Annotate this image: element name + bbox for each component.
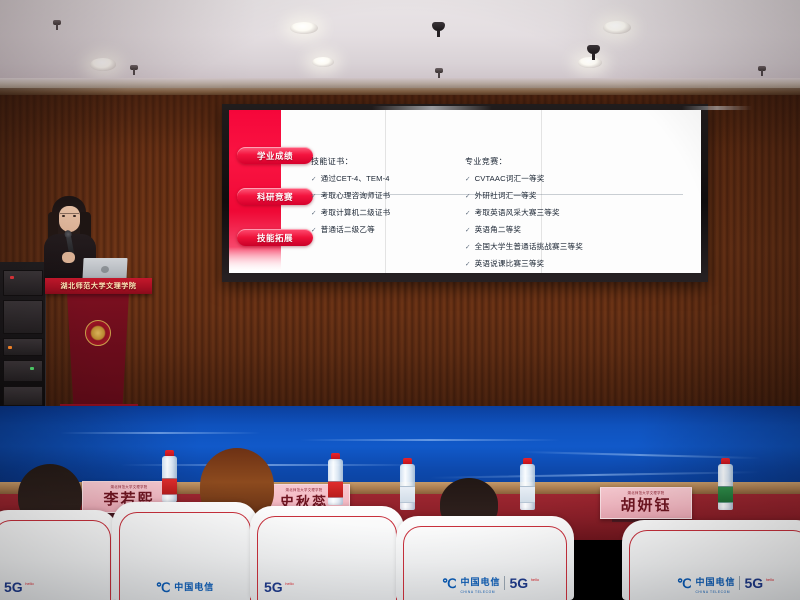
list-item: ✓考取计算机二级证书 <box>311 209 390 218</box>
water-bottle <box>718 458 733 510</box>
chair-cover: ℃ 中国电信 <box>112 502 258 600</box>
china-telecom-cn: 中国电信 <box>460 577 500 587</box>
chair-cover: 5Ghello <box>0 510 118 600</box>
downlight-5 <box>578 57 602 68</box>
name-card-name: 胡妍钰 <box>620 494 671 515</box>
list-item-text: 英语角二等奖 <box>475 225 521 234</box>
downlight-3 <box>312 57 334 67</box>
sprinkler-2 <box>130 65 138 70</box>
presenter-hand <box>62 252 75 263</box>
slide-tab-label: 技能拓展 <box>257 232 293 244</box>
bottle-body <box>718 464 733 510</box>
list-item: ✓考取心理咨询师证书 <box>311 192 390 201</box>
list-item: ✓CVTAAC词汇一等奖 <box>465 175 616 184</box>
bottle-body <box>162 456 177 502</box>
bottle-label <box>400 486 415 503</box>
rack-power-led <box>30 367 34 370</box>
list-item-text: 外研社词汇一等奖 <box>475 191 537 200</box>
5g-tagline: hello <box>285 582 293 586</box>
lecture-hall-photo: 学业成绩 科研竞赛 技能拓展 技能证书： ✓通过CET-4、TEM-4 ✓考取心… <box>0 0 800 600</box>
5g-tagline: hello <box>25 582 33 586</box>
downlight-4 <box>603 21 631 34</box>
list-item: ✓英语角二等奖 <box>465 226 616 235</box>
list-item-text: CVTAAC词汇一等奖 <box>475 174 545 183</box>
university-emblem-icon <box>85 320 111 346</box>
list-item-text: 考取心理咨询师证书 <box>321 191 391 200</box>
certificate-list: ✓通过CET-4、TEM-4 ✓考取心理咨询师证书 ✓考取计算机二级证书 ✓普通… <box>311 175 390 235</box>
china-telecom-en: CHINA TELECOM <box>695 590 735 594</box>
slide-tab-label: 学业成绩 <box>257 150 293 162</box>
list-item-text: 英语说课比赛三等奖 <box>475 259 545 268</box>
5g-logo-icon: 5Ghello <box>4 580 23 594</box>
check-icon: ✓ <box>465 227 471 234</box>
check-icon: ✓ <box>465 261 471 268</box>
ceiling <box>0 0 800 88</box>
china-telecom-wordmark: 中国电信 CHINA TELECOM <box>695 572 735 594</box>
logo-divider <box>739 576 740 590</box>
china-telecom-mark-icon: ℃ <box>156 581 171 594</box>
check-icon: ✓ <box>465 210 471 217</box>
chair-logo-telecom-full: ℃ 中国电信 CHINA TELECOM 5Ghello <box>396 572 574 594</box>
list-item: ✓全国大学生普通话挑战赛三等奖 <box>465 243 616 252</box>
list-item: ✓英语说课比赛三等奖 <box>465 260 616 269</box>
check-icon: ✓ <box>311 227 317 234</box>
5g-five: 5G <box>744 575 763 591</box>
5g-five: 5G <box>509 575 528 591</box>
slide-tab-academic[interactable]: 学业成绩 <box>237 147 313 164</box>
water-bottle <box>400 458 415 510</box>
sprinkler-3 <box>435 68 443 73</box>
rack-unit <box>3 300 43 334</box>
5g-five: 5G <box>264 579 283 595</box>
rack-power-led <box>10 276 14 279</box>
floor-wrinkle <box>60 432 260 434</box>
china-telecom-mark-icon: ℃ <box>677 577 692 590</box>
podium-plate-text: 湖北师范大学文理学院 <box>61 281 137 291</box>
china-telecom-mark-icon: ℃ <box>442 577 457 590</box>
av-equipment-rack <box>0 262 46 410</box>
laptop <box>82 258 127 280</box>
5g-logo-icon: 5Ghello <box>264 580 283 594</box>
list-item: ✓普通话二级乙等 <box>311 226 390 235</box>
china-telecom-cn: 中国电信 <box>695 577 735 587</box>
slide-tab-research[interactable]: 科研竞赛 <box>237 188 313 205</box>
chair-cover: ℃ 中国电信 CHINA TELECOM 5Ghello <box>622 520 800 600</box>
presenter-face <box>59 206 80 232</box>
competition-list: ✓CVTAAC词汇一等奖 ✓外研社词汇一等奖 ✓考取英语风采大赛三等奖 ✓英语角… <box>465 175 616 273</box>
china-telecom-cn: 中国电信 <box>174 583 214 592</box>
check-icon: ✓ <box>465 244 471 251</box>
check-icon: ✓ <box>465 176 471 183</box>
5g-tagline: hello <box>766 578 774 582</box>
ceiling-speaker-2 <box>587 45 600 54</box>
sprinkler-1 <box>53 20 61 25</box>
presenter-eye-left <box>62 215 65 217</box>
list-item: ✓通过CET-4、TEM-4 <box>311 175 390 184</box>
list-item-text: 通过CET-4、TEM-4 <box>321 174 390 183</box>
water-bottle <box>162 450 177 502</box>
name-card-org: 湖北师范大学文理学院 <box>601 490 691 495</box>
check-icon: ✓ <box>465 193 471 200</box>
sprinkler-4 <box>758 66 766 71</box>
check-icon: ✓ <box>311 210 317 217</box>
rack-unit <box>3 360 43 382</box>
list-item: ✓外研社词汇一等奖 <box>465 192 616 201</box>
slide-tab-skills[interactable]: 技能拓展 <box>237 229 313 246</box>
list-item-text: 普通话二级乙等 <box>321 225 375 234</box>
chair-cover: 5Ghello <box>250 506 404 600</box>
chair-logo-telecom-full: ℃ 中国电信 CHINA TELECOM 5Ghello <box>622 572 800 594</box>
rack-unit <box>3 386 43 406</box>
chair-logo-telecom: ℃ 中国电信 <box>112 581 258 594</box>
5g-five: 5G <box>4 579 23 595</box>
podium-body <box>64 288 132 408</box>
water-bottle <box>520 458 535 510</box>
slide-column-certificates: 技能证书： ✓通过CET-4、TEM-4 ✓考取心理咨询师证书 ✓考取计算机二级… <box>311 156 390 243</box>
presentation-screen[interactable]: 学业成绩 科研竞赛 技能拓展 技能证书： ✓通过CET-4、TEM-4 ✓考取心… <box>229 110 701 273</box>
rack-unit <box>3 270 43 296</box>
list-item: ✓考取英语风采大赛三等奖 <box>465 209 616 218</box>
china-telecom-en: CHINA TELECOM <box>460 590 500 594</box>
chair-cover: ℃ 中国电信 CHINA TELECOM 5Ghello <box>396 516 574 600</box>
chair-logo-5g: 5Ghello <box>0 580 118 594</box>
bottle-label <box>328 481 343 498</box>
5g-logo-icon: 5Ghello <box>509 576 528 590</box>
bottle-label <box>718 486 733 503</box>
bottle-body <box>400 464 415 510</box>
list-item-text: 考取英语风采大赛三等奖 <box>475 208 560 217</box>
logo-divider <box>504 576 505 590</box>
water-bottle <box>328 453 343 505</box>
name-card: 湖北师范大学文理学院 胡妍钰 <box>600 487 692 519</box>
floor-wrinkle <box>300 439 560 441</box>
column-heading: 技能证书： <box>311 156 390 167</box>
bottle-label <box>162 478 177 495</box>
podium-name-plate: 湖北师范大学文理学院 <box>45 278 152 294</box>
chair-logo-5g: 5Ghello <box>250 580 404 594</box>
list-item-text: 考取计算机二级证书 <box>321 208 391 217</box>
check-icon: ✓ <box>311 193 317 200</box>
column-heading: 专业竞赛： <box>465 156 616 167</box>
bottle-body <box>328 459 343 505</box>
slide-column-competitions: 专业竞赛： ✓CVTAAC词汇一等奖 ✓外研社词汇一等奖 ✓考取英语风采大赛三等… <box>465 156 616 273</box>
rack-power-led <box>8 346 12 349</box>
led-screen-bezel: 学业成绩 科研竞赛 技能拓展 技能证书： ✓通过CET-4、TEM-4 ✓考取心… <box>222 104 708 282</box>
list-item-text: 全国大学生普通话挑战赛三等奖 <box>475 242 583 251</box>
5g-tagline: hello <box>531 578 539 582</box>
bottle-label <box>520 486 535 503</box>
check-icon: ✓ <box>311 176 317 183</box>
5g-logo-icon: 5Ghello <box>744 576 763 590</box>
downlight-1 <box>90 58 116 71</box>
slide-tab-label: 科研竞赛 <box>257 191 293 203</box>
ceiling-speaker-1 <box>432 22 445 31</box>
presenter-eye-right <box>73 215 76 217</box>
downlight-2 <box>290 22 318 34</box>
china-telecom-wordmark: 中国电信 CHINA TELECOM <box>460 572 500 594</box>
bottle-body <box>520 464 535 510</box>
